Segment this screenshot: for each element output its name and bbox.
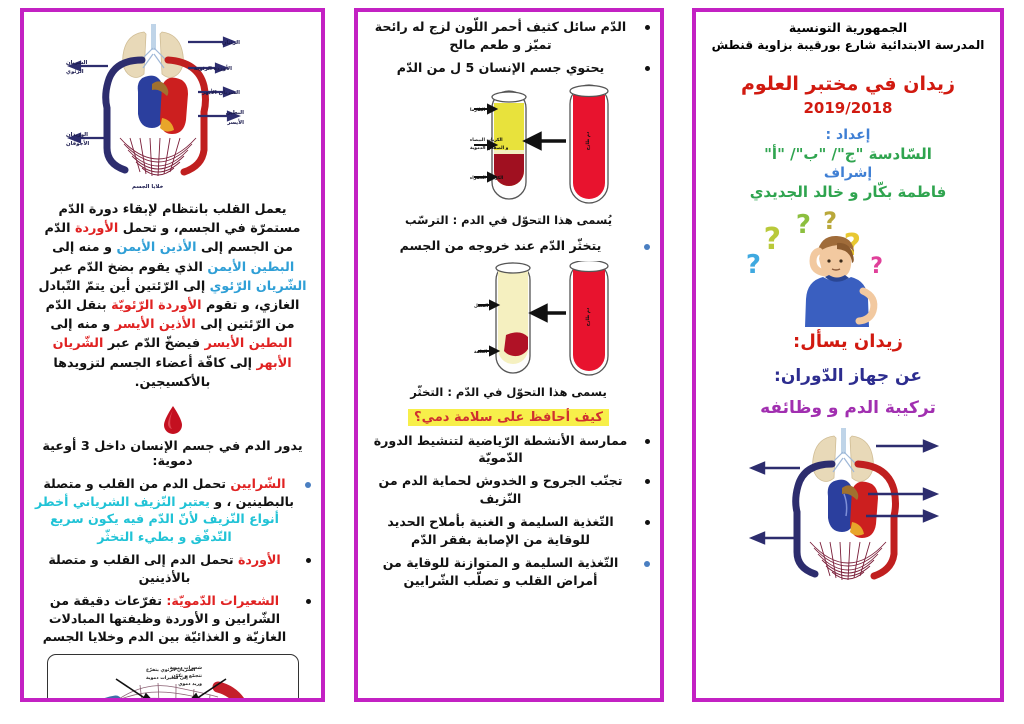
left-ventricle-label-1: البطين <box>226 110 245 116</box>
text-run-0: الشّرايين <box>230 476 285 491</box>
clot-label: العلقة <box>474 350 488 355</box>
red-cells-label: الكريات الحمراء <box>470 175 504 181</box>
vessel-types-list: الشّرايين تحمل الدم من القلب و متصلة بال… <box>32 475 313 646</box>
lungs-label: الرئتان <box>222 40 240 46</box>
list-item: الشعيرات الدّمويّة: تفرّعات دقيقة من الش… <box>32 592 313 646</box>
svg-text:?: ? <box>746 250 761 280</box>
circulatory-system-labeled-icon: الرئتان الأوردة الرئوية الشريان الأبهر ا… <box>28 20 313 192</box>
thinking-boy-icon: ? ? ? ? ? ? <box>733 207 963 327</box>
blood-drop-icon <box>161 405 185 435</box>
text-run-7: الشّريان الرّئوي <box>210 279 307 294</box>
text-run-12: و منه إلى <box>50 317 114 332</box>
topic-line: تركيبة الدم و وظائفه <box>704 398 992 418</box>
svg-text:?: ? <box>870 254 883 279</box>
svg-text:?: ? <box>796 210 811 240</box>
class-names: السّادسة "ج"/ "ب"/ "أ" <box>704 145 992 163</box>
capillary-figure-box: الشريان الرئوي يتفرّع إلى شعيرات دموية ش… <box>47 654 299 702</box>
circulatory-system-icon <box>748 424 948 594</box>
pulmonary-artery-label-1: الشريان <box>66 60 88 66</box>
svg-text:?: ? <box>823 207 837 235</box>
school-header: الجمهورية التونسية المدرسة الابتدائية شا… <box>704 20 992 53</box>
text-run-1: الأوردة <box>75 221 118 236</box>
plasma-label: البلازما <box>470 108 486 113</box>
highlighted-question: كيف أحافظ على سلامة دمي؟ <box>408 409 609 426</box>
text-run-1: تحمل الدم إلى القلب و متصلة بالأذينين <box>48 552 238 585</box>
sedimentation-figure: دم طازج البلازما الكريات البيضاء و الصفا… <box>366 83 652 211</box>
platelets-label: و الصفائح الدموية <box>470 146 509 151</box>
labeled-circulatory-diagram: الرئتان الأوردة الرئوية الشريان الأبهر ا… <box>32 20 313 192</box>
text-run-6: الذي يقوم بضخ الدّم عبر <box>51 260 208 275</box>
text-run-13: البطين الأيسر <box>205 336 293 351</box>
text-run-0: الشعيرات الدّمويّة: <box>166 593 279 608</box>
clotting-figure: دم طازج المصل العلقة <box>366 261 652 383</box>
list-item: تجنّب الجروح و الخدوش لحماية الدم من الن… <box>366 472 652 508</box>
sedimentation-caption: يُسمى هذا التحوّل في الدم : الترسّب <box>366 213 652 227</box>
prepared-by-label: إعداد : <box>704 127 992 143</box>
left-ventricle-label-2: الأيسر <box>226 118 244 126</box>
school-line-1: الجمهورية التونسية <box>704 20 992 37</box>
circulatory-diagram-plain <box>704 424 992 594</box>
clotting-list: يتخثّر الدّم عند خروجه من الجسم <box>366 237 652 255</box>
text-run-11: الأذين الأيسر <box>115 317 196 332</box>
text-run-5: البطين الأيمن <box>207 260 294 275</box>
fresh-blood-label: دم طازج <box>586 131 591 150</box>
pulmonary-artery-label-2: الرئوي <box>66 69 84 75</box>
aorta-label: الشريان الأبهر <box>201 88 240 96</box>
text-run-4: و منه إلى <box>52 240 116 255</box>
school-line-2: المدرسة الابتدائية شارع بورقيبة بزاوية ق… <box>704 37 992 53</box>
clotting-caption: يسمى هذا التحوّل في الدّم : التخثّر <box>366 385 652 399</box>
fresh-blood-label-2: دم طازج <box>586 307 591 326</box>
serum-label: المصل <box>474 304 489 309</box>
ask-line: زيدان يسأل: <box>704 331 992 352</box>
text-run-0: الأوردة <box>238 552 281 567</box>
text-run-3: الأذين الأيمن <box>116 240 196 255</box>
list-item: ممارسة الأنشطة الرّياضية لتنشيط الدورة ا… <box>366 432 652 468</box>
list-item: التّغذية السليمة و الغنية بأملاح الحديد … <box>366 513 652 549</box>
blood-drop-illustration <box>32 405 313 435</box>
text-run-16: إلى كافّة أعضاء الجسم لتزويدها بالأكسيجي… <box>53 356 256 390</box>
school-year: 2019/2018 <box>704 99 992 117</box>
list-item: الشّرايين تحمل الدم من القلب و متصلة بال… <box>32 475 313 547</box>
about-line: عن جهاز الدّوران: <box>704 366 992 386</box>
list-item: يتخثّر الدّم عند خروجه من الجسم <box>366 237 652 255</box>
capillary-right-label-2: تتجمّع و تكوّن <box>171 672 202 678</box>
test-tubes-sedimentation-icon: دم طازج البلازما الكريات البيضاء و الصفا… <box>374 83 644 211</box>
pulmonary-veins-label: الأوردة الرئوية <box>194 64 232 72</box>
page-title: زيدان في مختبر العلوم <box>704 73 992 95</box>
circulation-paragraph: يعمل القلب بانتظام لإبقاء دورة الدّم مست… <box>32 200 313 392</box>
body-cells-label: خلايا الجسم <box>132 184 163 190</box>
panel-cover: الجمهورية التونسية المدرسة الابتدائية شا… <box>692 8 1004 702</box>
svg-text:?: ? <box>764 222 781 257</box>
supervision-label: إشراف <box>704 165 992 181</box>
list-item: يحتوي جسم الإنسان 5 ل من الدّم <box>366 59 652 77</box>
vessel-intro-text: يدور الدم في جسم الإنسان داخل 3 أوعية دم… <box>32 439 313 469</box>
test-tubes-clotting-icon: دم طازج المصل العلقة <box>374 261 644 383</box>
text-run-14: فيضخّ الدّم عبر <box>103 336 204 351</box>
white-cells-label: الكريات البيضاء <box>470 137 503 143</box>
blood-intro-list: الدّم سائل كثيف أحمر اللّون لزج له رائحة… <box>366 18 652 77</box>
supervisor-names: فاطمة بكّار و خالد الجديدي <box>704 183 992 201</box>
text-run-9: الأوردة الرّئويّة <box>111 298 201 313</box>
venae-cavae-label-2: الأجوفان <box>66 139 89 147</box>
capillary-right-label-1: شعيرات دموية <box>169 666 202 671</box>
capillary-network-icon: الشريان الرئوي يتفرّع إلى شعيرات دموية ش… <box>50 659 294 702</box>
venae-cavae-label-1: الوريدان <box>66 132 88 138</box>
list-item: الدّم سائل كثيف أحمر اللّون لزج له رائحة… <box>366 18 652 54</box>
list-item: التّغذية السليمة و المتوازنة للوقاية من … <box>366 554 652 590</box>
brochure-sheet: الجمهورية التونسية المدرسة الابتدائية شا… <box>0 0 1024 724</box>
thinking-boy-illustration: ? ? ? ? ? ? <box>704 207 992 327</box>
blood-care-list: ممارسة الأنشطة الرّياضية لتنشيط الدورة ا… <box>366 432 652 590</box>
capillary-right-label-3: وريد دموي <box>178 682 202 687</box>
panel-blood-composition: الدّم سائل كثيف أحمر اللّون لزج له رائحة… <box>354 8 664 702</box>
panel-circulation: الرئتان الأوردة الرئوية الشريان الأبهر ا… <box>20 8 325 702</box>
list-item: الأوردة تحمل الدم إلى القلب و متصلة بالأ… <box>32 551 313 587</box>
